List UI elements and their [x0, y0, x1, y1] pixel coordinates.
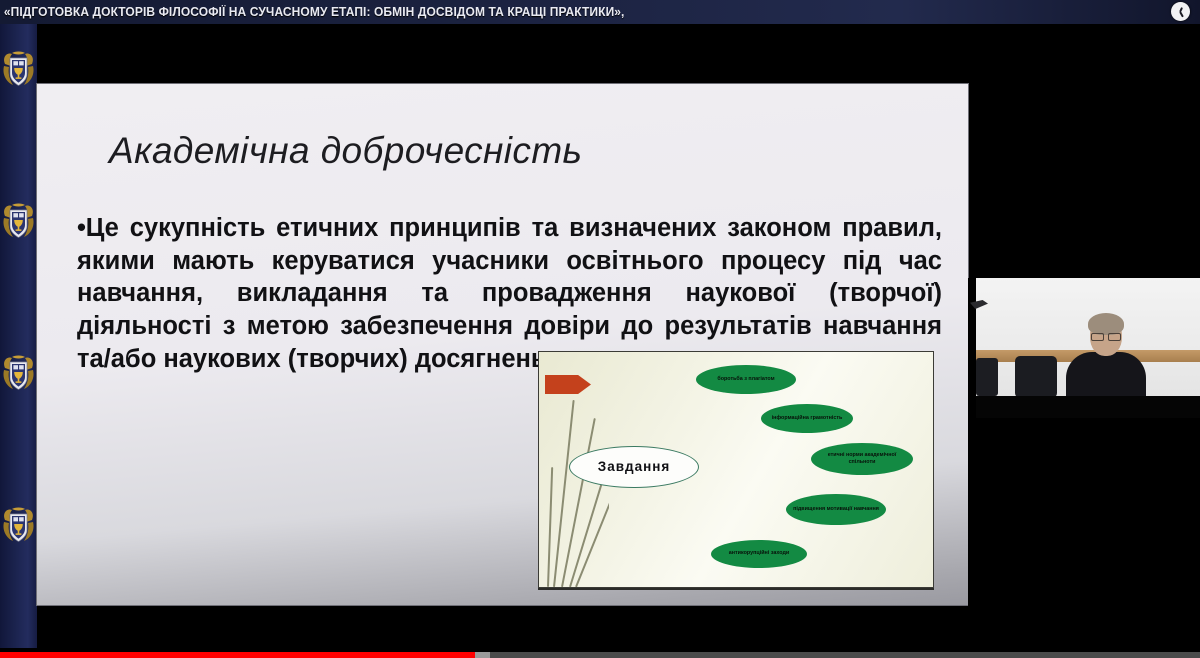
presenter-video-panel[interactable]	[968, 278, 1200, 618]
clock-minute-hand	[1180, 11, 1185, 17]
university-crest-icon	[1, 202, 36, 242]
presenter-hair	[1088, 313, 1124, 335]
progress-buffer	[475, 652, 489, 658]
presentation-slide: Академічна доброчесність •Це сукупність …	[37, 84, 968, 605]
progress-played[interactable]	[0, 652, 475, 658]
stream-title: «ПІДГОТОВКА ДОКТОРІВ ФІЛОСОФІЇ НА СУЧАСН…	[0, 5, 624, 19]
desk	[976, 396, 1200, 420]
clock-icon[interactable]	[1171, 2, 1190, 21]
video-player-screen: «ПІДГОТОВКА ДОКТОРІВ ФІЛОСОФІЇ НА СУЧАСН…	[0, 0, 1200, 658]
university-crest-icon	[1, 506, 36, 546]
diagram-center-node: Завдання	[569, 446, 699, 488]
video-progress-bar[interactable]	[0, 652, 1200, 658]
bullet-marker: •	[77, 214, 86, 242]
slide-paragraph: Це сукупність етичних принципів та визна…	[77, 214, 942, 373]
chair	[1015, 356, 1057, 398]
diagram-node: етичні норми академічної спільноти	[811, 443, 913, 475]
university-crest-icon	[1, 50, 36, 90]
grass-decoration	[539, 392, 609, 587]
university-crest-icon	[1, 354, 36, 394]
glasses-icon	[1091, 333, 1121, 339]
diagram-node: антикорупційні заходи	[711, 540, 807, 568]
tasks-diagram-image: Завдання боротьба з плагіатом інформацій…	[538, 351, 934, 588]
diagram-node: підвищення мотивації навчання	[786, 494, 886, 525]
branding-sidebar	[0, 24, 37, 648]
slide-title: Академічна доброчесність	[109, 130, 582, 172]
presenter-figure	[1066, 316, 1146, 408]
video-letterbox	[968, 418, 1200, 618]
diagram-node: інформаційна грамотність	[761, 404, 853, 433]
chair	[976, 358, 998, 396]
diagram-node: боротьба з плагіатом	[696, 365, 796, 394]
title-bar: «ПІДГОТОВКА ДОКТОРІВ ФІЛОСОФІЇ НА СУЧАСН…	[0, 0, 1200, 24]
